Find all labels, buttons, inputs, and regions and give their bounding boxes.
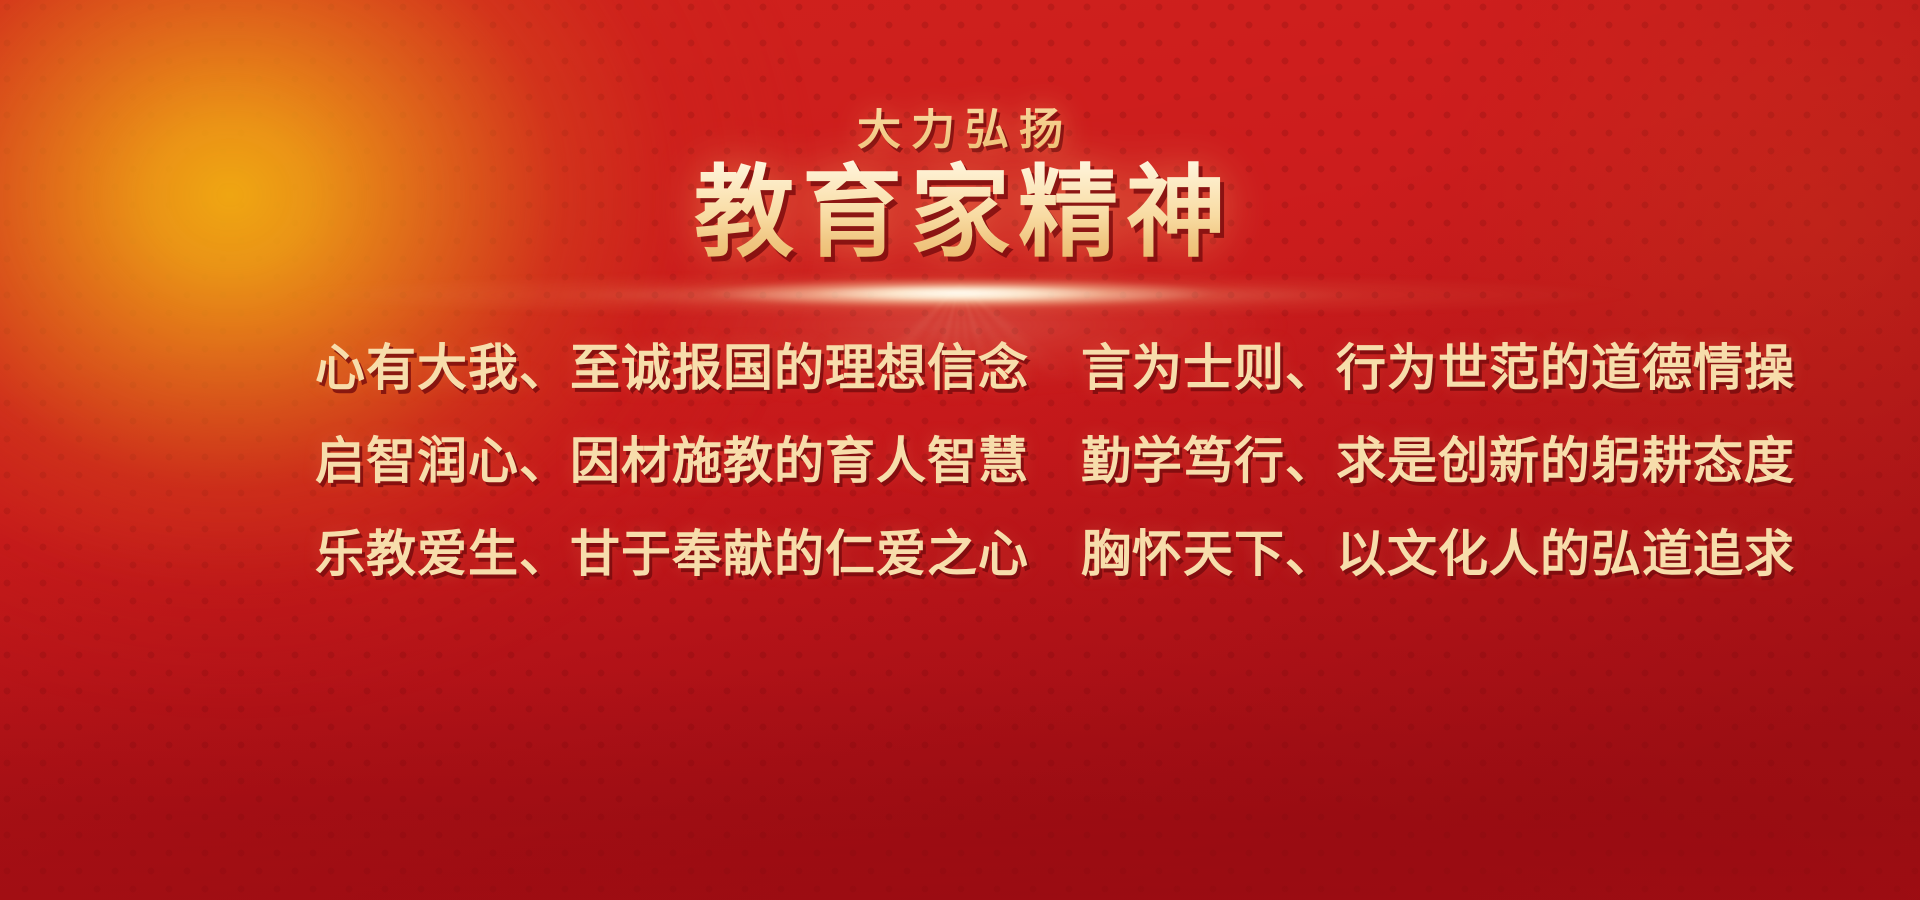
banner-stage: 大力弘扬 教育家精神 心有大我、至诚报国的理想信念 言为士则、行为世范的道德情操… xyxy=(0,0,1920,900)
banner-subtitle: 大力弘扬 xyxy=(0,108,1920,152)
background-bottom-shade xyxy=(0,670,1920,900)
phrase-row1-right: 言为士则、行为世范的道德情操 xyxy=(1081,338,1795,397)
phrase-row3-left: 乐教爱生、甘于奉献的仁爱之心 xyxy=(315,524,1029,583)
banner-title: 教育家精神 xyxy=(0,158,1920,266)
phrase-row3-right: 胸怀天下、以文化人的弘道追求 xyxy=(1081,524,1795,583)
phrase-row2-left: 启智润心、因材施教的育人智慧 xyxy=(315,431,1029,490)
phrase-row1-left: 心有大我、至诚报国的理想信念 xyxy=(315,338,1029,397)
phrase-row2-right: 勤学笃行、求是创新的躬耕态度 xyxy=(1081,431,1795,490)
title-block: 大力弘扬 教育家精神 xyxy=(0,108,1920,266)
phrase-grid: 心有大我、至诚报国的理想信念 言为士则、行为世范的道德情操 启智润心、因材施教的… xyxy=(315,338,1605,583)
